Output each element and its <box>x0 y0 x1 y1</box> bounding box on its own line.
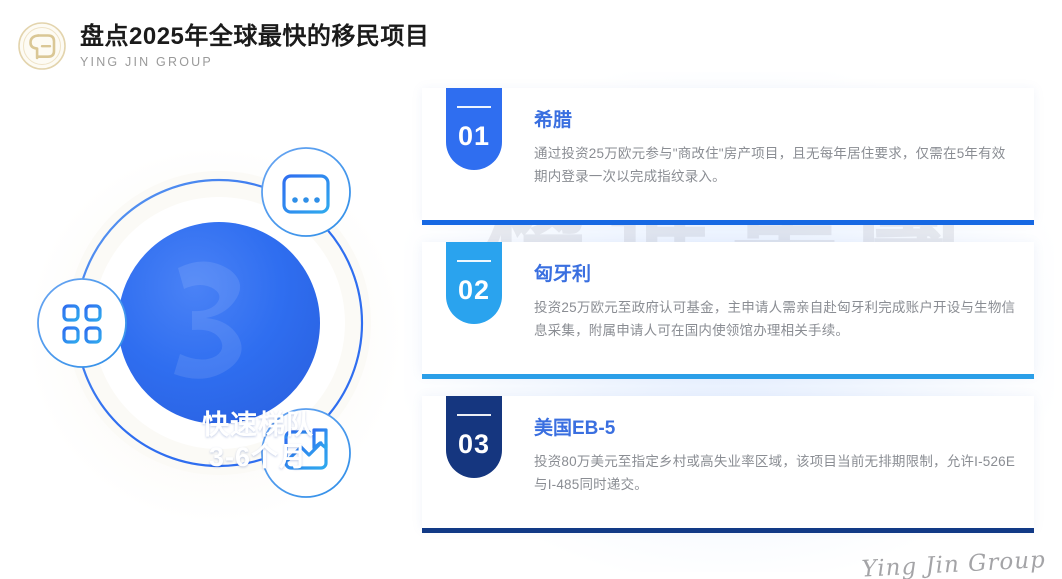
brand-signature: Ying Jin Group <box>860 547 1046 579</box>
brand-subtitle: YING JIN GROUP <box>80 55 429 69</box>
slide-canvas: 楹進集團 YING JIN GROUP 盘点2025年全球最快的移民项目 YIN… <box>0 0 1062 579</box>
card-description: 投资80万美元至指定乡村或高失业率区域，该项目当前无排期限制，允许I-526E与… <box>534 450 1018 496</box>
card-description: 通过投资25万欧元参与"商改住"房产项目，且无每年居住要求，仅需在5年有效期内登… <box>534 142 1018 188</box>
card-accent-bar <box>422 220 1034 225</box>
card-description: 投资25万欧元至政府认可基金，主申请人需亲自赴匈牙利完成账户开设与生物信息采集，… <box>534 296 1018 342</box>
card-accent-bar <box>422 528 1034 533</box>
card-number-badge: 02 <box>446 242 502 324</box>
card-body: 美国EB-5 投资80万美元至指定乡村或高失业率区域，该项目当前无排期限制，允许… <box>534 418 1018 496</box>
card-title: 匈牙利 <box>534 264 1018 287</box>
badge-rule <box>457 106 491 108</box>
ying-jin-coin-logo-icon <box>12 16 72 76</box>
program-card-list: 01 希腊 通过投资25万欧元参与"商改住"房产项目，且无每年居住要求，仅需在5… <box>422 88 1034 550</box>
program-card[interactable]: 01 希腊 通过投资25万欧元参与"商改住"房产项目，且无每年居住要求，仅需在5… <box>422 88 1034 220</box>
card-number-badge: 01 <box>446 88 502 170</box>
speed-tier-diagram: 快速梯队 3-6个月 <box>28 140 402 524</box>
card-number: 02 <box>458 277 490 304</box>
badge-rule <box>457 260 491 262</box>
program-card[interactable]: 03 美国EB-5 投资80万美元至指定乡村或高失业率区域，该项目当前无排期限制… <box>422 396 1034 528</box>
page-header: 盘点2025年全球最快的移民项目 YING JIN GROUP <box>0 0 429 92</box>
header-text-block: 盘点2025年全球最快的移民项目 YING JIN GROUP <box>80 23 429 70</box>
page-title: 盘点2025年全球最快的移民项目 <box>80 23 429 51</box>
card-title: 希腊 <box>534 110 1018 133</box>
card-body: 希腊 通过投资25万欧元参与"商改住"房产项目，且无每年居住要求，仅需在5年有效… <box>534 110 1018 188</box>
program-card[interactable]: 02 匈牙利 投资25万欧元至政府认可基金，主申请人需亲自赴匈牙利完成账户开设与… <box>422 242 1034 374</box>
badge-rule <box>457 414 491 416</box>
card-number: 01 <box>458 123 490 150</box>
card-number: 03 <box>458 431 490 458</box>
card-accent-bar <box>422 374 1034 379</box>
card-title: 美国EB-5 <box>534 418 1018 441</box>
card-body: 匈牙利 投资25万欧元至政府认可基金，主申请人需亲自赴匈牙利完成账户开设与生物信… <box>534 264 1018 342</box>
card-number-badge: 03 <box>446 396 502 478</box>
